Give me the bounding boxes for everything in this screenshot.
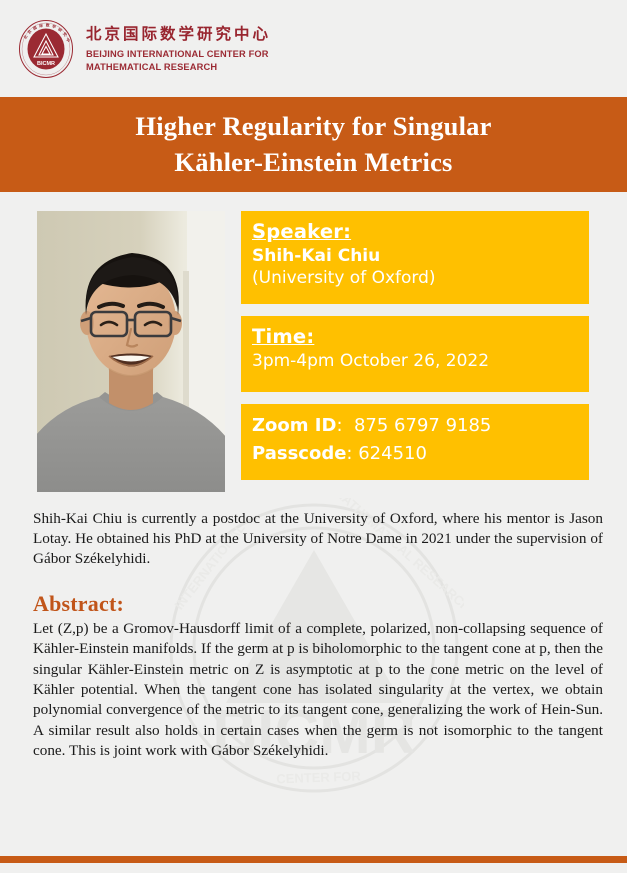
zoom-passcode-label: Passcode xyxy=(252,443,346,464)
page-title-line1: Higher Regularity for Singular xyxy=(135,109,491,144)
svg-text:国: 国 xyxy=(32,24,38,30)
zoom-id-value: 875 6797 9185 xyxy=(354,415,491,436)
zoom-passcode-value: 624510 xyxy=(358,443,427,464)
abstract-heading: Abstract: xyxy=(33,591,627,617)
speaker-photo xyxy=(37,211,225,492)
abstract-text: Let (Z,p) be a Gromov-Hausdorff limit of… xyxy=(33,619,603,762)
svg-text:BICMR: BICMR xyxy=(37,61,55,67)
bicmr-logo-icon: BICMR 北 京 国 际 数 学 研 究 中 xyxy=(18,19,74,79)
zoom-id-separator: : xyxy=(336,415,354,436)
org-name-english-line1: BEIJING INTERNATIONAL CENTER FOR xyxy=(86,48,271,61)
speaker-name: Shih-Kai Chiu xyxy=(252,245,578,268)
svg-text:研: 研 xyxy=(57,26,63,32)
speaker-affiliation: (University of Oxford) xyxy=(252,267,578,290)
info-boxes: Speaker: Shih-Kai Chiu (University of Ox… xyxy=(241,211,589,480)
time-box: Time: 3pm-4pm October 26, 2022 xyxy=(241,316,589,392)
time-label: Time: xyxy=(252,324,578,350)
zoom-box: Zoom ID: 875 6797 9185 Passcode: 624510 xyxy=(241,404,589,480)
org-name-chinese: 北京国际数学研究中心 xyxy=(86,25,271,44)
speaker-bio: Shih-Kai Chiu is currently a postdoc at … xyxy=(33,509,603,570)
org-name-english-line2: MATHEMATICAL RESEARCH xyxy=(86,61,271,74)
zoom-passcode-row: Passcode: 624510 xyxy=(252,440,578,468)
title-banner: Higher Regularity for Singular Kähler-Ei… xyxy=(0,97,627,192)
page-title: Higher Regularity for Singular Kähler-Ei… xyxy=(135,109,491,179)
zoom-id-row: Zoom ID: 875 6797 9185 xyxy=(252,412,578,440)
svg-text:际: 际 xyxy=(39,22,44,28)
poster-content: Speaker: Shih-Kai Chiu (University of Ox… xyxy=(0,192,627,762)
svg-text:CENTER FOR: CENTER FOR xyxy=(276,768,362,786)
footer-bar xyxy=(0,856,627,863)
speaker-box: Speaker: Shih-Kai Chiu (University of Ox… xyxy=(241,211,589,304)
time-value: 3pm-4pm October 26, 2022 xyxy=(252,350,578,373)
speaker-info-row: Speaker: Shih-Kai Chiu (University of Ox… xyxy=(0,192,627,492)
zoom-id-label: Zoom ID xyxy=(252,415,336,436)
zoom-passcode-separator: : xyxy=(346,443,358,464)
speaker-label: Speaker: xyxy=(252,219,578,245)
organization-names: 北京国际数学研究中心 BEIJING INTERNATIONAL CENTER … xyxy=(86,25,271,74)
page-header: BICMR 北 京 国 际 数 学 研 究 中 北京国际数学研究中心 BEIJI… xyxy=(0,0,627,97)
page-title-line2: Kähler-Einstein Metrics xyxy=(135,145,491,180)
